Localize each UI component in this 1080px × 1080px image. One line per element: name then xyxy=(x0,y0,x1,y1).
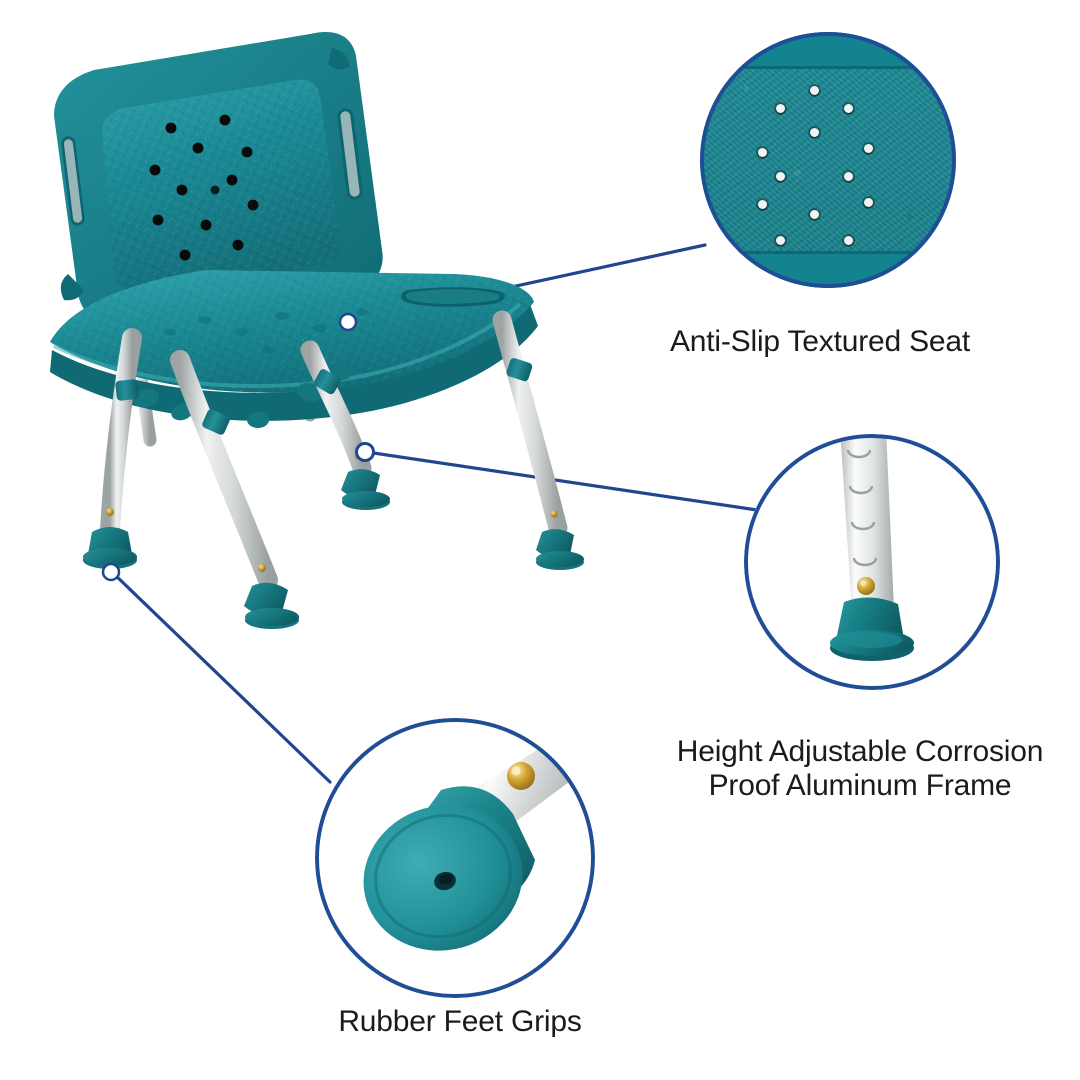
callout-marker-frame xyxy=(357,444,374,461)
callout-marker-feet xyxy=(103,564,119,580)
caption-anti-slip-seat: Anti-Slip Textured Seat xyxy=(590,325,1050,359)
caption-rubber-feet-grips: Rubber Feet Grips xyxy=(270,1005,650,1039)
callout-marker-seat xyxy=(340,314,356,330)
infographic-canvas: Anti-Slip Textured Seat Height Adjustabl… xyxy=(0,0,1080,1080)
caption-height-adjustable-frame: Height Adjustable Corrosion Proof Alumin… xyxy=(640,735,1080,802)
callout-markers xyxy=(0,0,1080,1080)
